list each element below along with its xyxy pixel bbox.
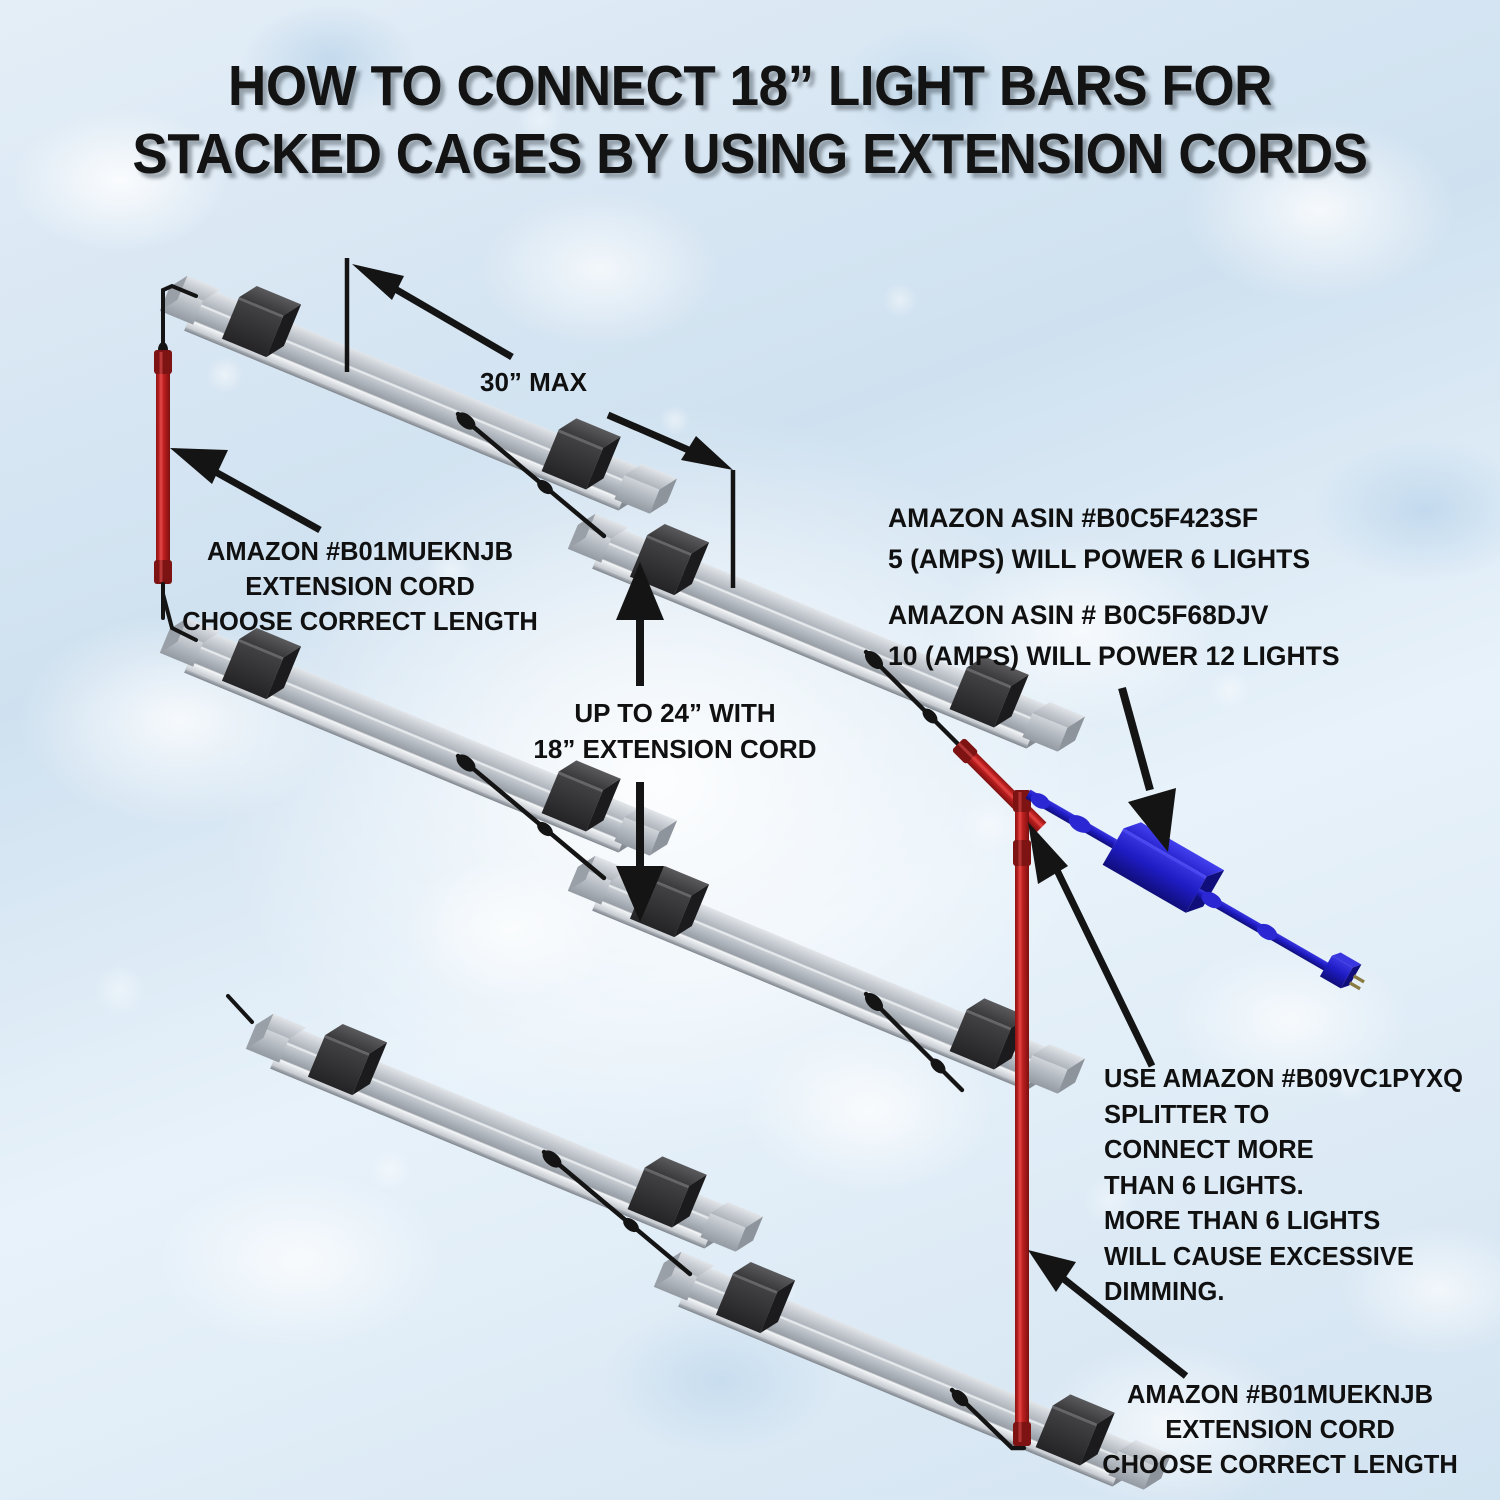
callout-arrow-left-cord [170,448,320,530]
annotation-asin-5amp: AMAZON ASIN #B0C5F423SF 5 (AMPS) WILL PO… [888,498,1428,580]
annotation-bottom-extension-cord: AMAZON #B01MUEKNJB EXTENSION CORD CHOOSE… [1060,1378,1500,1483]
annotation-left-extension-cord: AMAZON #B01MUEKNJB EXTENSION CORD CHOOSE… [150,535,570,640]
power-adapter-assembly [1016,766,1377,1007]
annotation-splitter: USE AMAZON #B09VC1PYXQ SPLITTER TO CONNE… [1104,1062,1500,1311]
arrow-left-30max [352,264,512,357]
extension-cord-right-angled [952,738,1048,834]
annotation-vertical-spacing: UP TO 24” WITH 18” EXTENSION CORD [500,695,850,767]
page-title: HOW TO CONNECT 18” LIGHT BARS FOR STACKE… [53,52,1448,188]
annotation-asin-10amp: AMAZON ASIN # B0C5F68DJV 10 (AMPS) WILL … [888,595,1448,677]
infographic-canvas: HOW TO CONNECT 18” LIGHT BARS FOR STACKE… [0,0,1500,1500]
light-bar-5 [242,993,769,1264]
extension-cord-right-vertical [1013,790,1031,1446]
lead-wire-bar5-left [228,996,252,1022]
arrow-right-30max [608,415,733,470]
annotation-max-spacing: 30” MAX [480,365,587,399]
